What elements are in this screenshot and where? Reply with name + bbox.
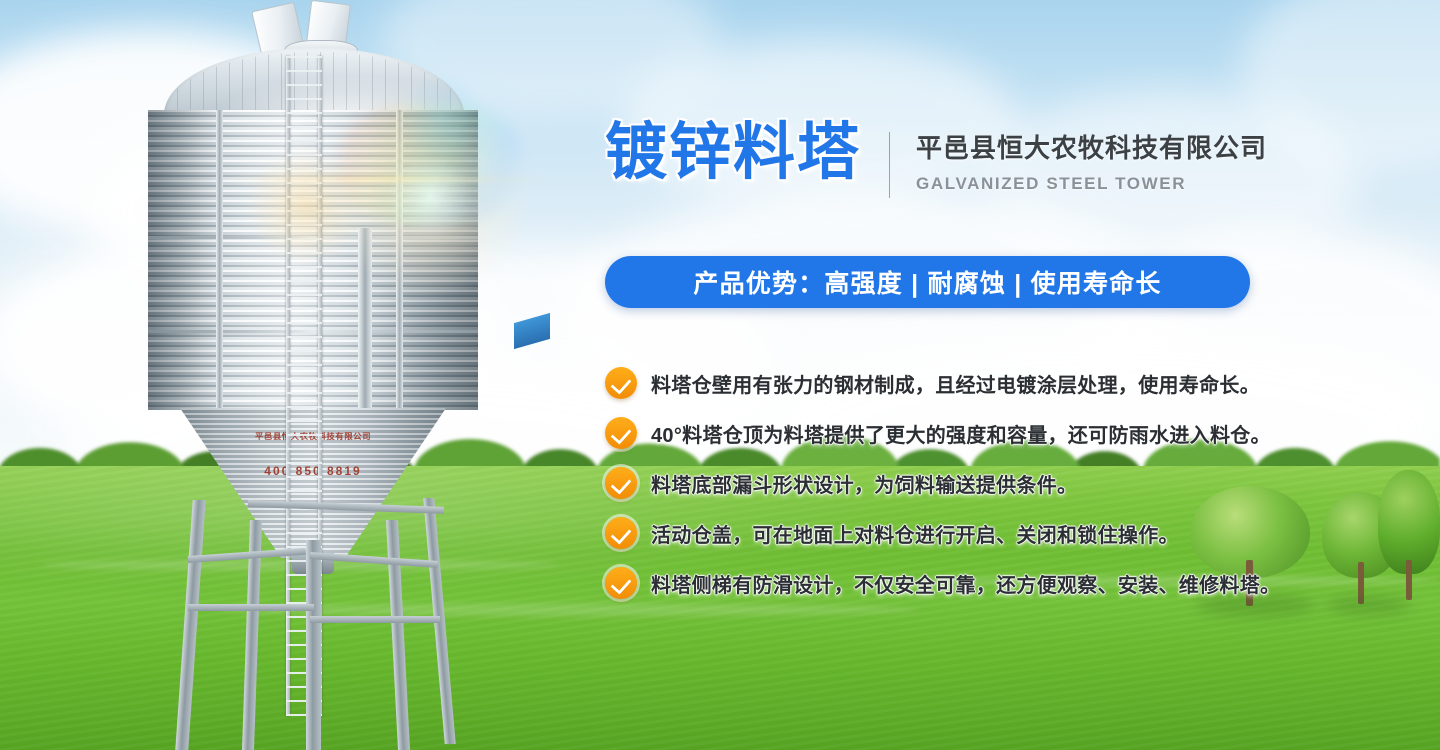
feature-item: 料塔仓壁用有张力的钢材制成，且经过电镀涂层处理，使用寿命长。 — [605, 358, 1305, 408]
company-name-en: GALVANIZED STEEL TOWER — [916, 174, 1267, 194]
feature-item: 料塔底部漏斗形状设计，为饲料输送提供条件。 — [605, 458, 1305, 508]
feature-text: 料塔底部漏斗形状设计，为饲料输送提供条件。 — [651, 469, 1077, 498]
advantages-pill-label: 产品优势：高强度 | 耐腐蚀 | 使用寿命长 — [693, 264, 1161, 300]
feature-item: 活动仓盖，可在地面上对料仓进行开启、关闭和锁住操作。 — [605, 508, 1305, 558]
feature-text: 40°料塔仓顶为料塔提供了更大的强度和容量，还可防雨水进入料仓。 — [651, 419, 1271, 448]
company-block: 平邑县恒大农牧科技有限公司 GALVANIZED STEEL TOWER — [916, 118, 1267, 194]
check-circle-icon — [605, 517, 637, 549]
company-name: 平邑县恒大农牧科技有限公司 — [916, 128, 1267, 165]
banner-content: 镀锌料塔 平邑县恒大农牧科技有限公司 GALVANIZED STEEL TOWE… — [0, 0, 1440, 750]
headline-row: 镀锌料塔 平邑县恒大农牧科技有限公司 GALVANIZED STEEL TOWE… — [605, 118, 1267, 198]
title-divider — [889, 132, 890, 198]
feature-text: 料塔仓壁用有张力的钢材制成，且经过电镀涂层处理，使用寿命长。 — [651, 369, 1260, 398]
feature-text: 料塔侧梯有防滑设计，不仅安全可靠，还方便观察、安装、维修料塔。 — [651, 569, 1280, 598]
feature-list: 料塔仓壁用有张力的钢材制成，且经过电镀涂层处理，使用寿命长。 40°料塔仓顶为料… — [605, 358, 1305, 608]
check-circle-icon — [605, 417, 637, 449]
advantages-pill: 产品优势：高强度 | 耐腐蚀 | 使用寿命长 — [605, 256, 1250, 308]
feature-item: 40°料塔仓顶为料塔提供了更大的强度和容量，还可防雨水进入料仓。 — [605, 408, 1305, 458]
feature-text: 活动仓盖，可在地面上对料仓进行开启、关闭和锁住操作。 — [651, 519, 1179, 548]
feature-item: 料塔侧梯有防滑设计，不仅安全可靠，还方便观察、安装、维修料塔。 — [605, 558, 1305, 608]
check-circle-icon — [605, 467, 637, 499]
check-circle-icon — [605, 367, 637, 399]
page-title: 镀锌料塔 — [605, 118, 861, 187]
check-circle-icon — [605, 567, 637, 599]
